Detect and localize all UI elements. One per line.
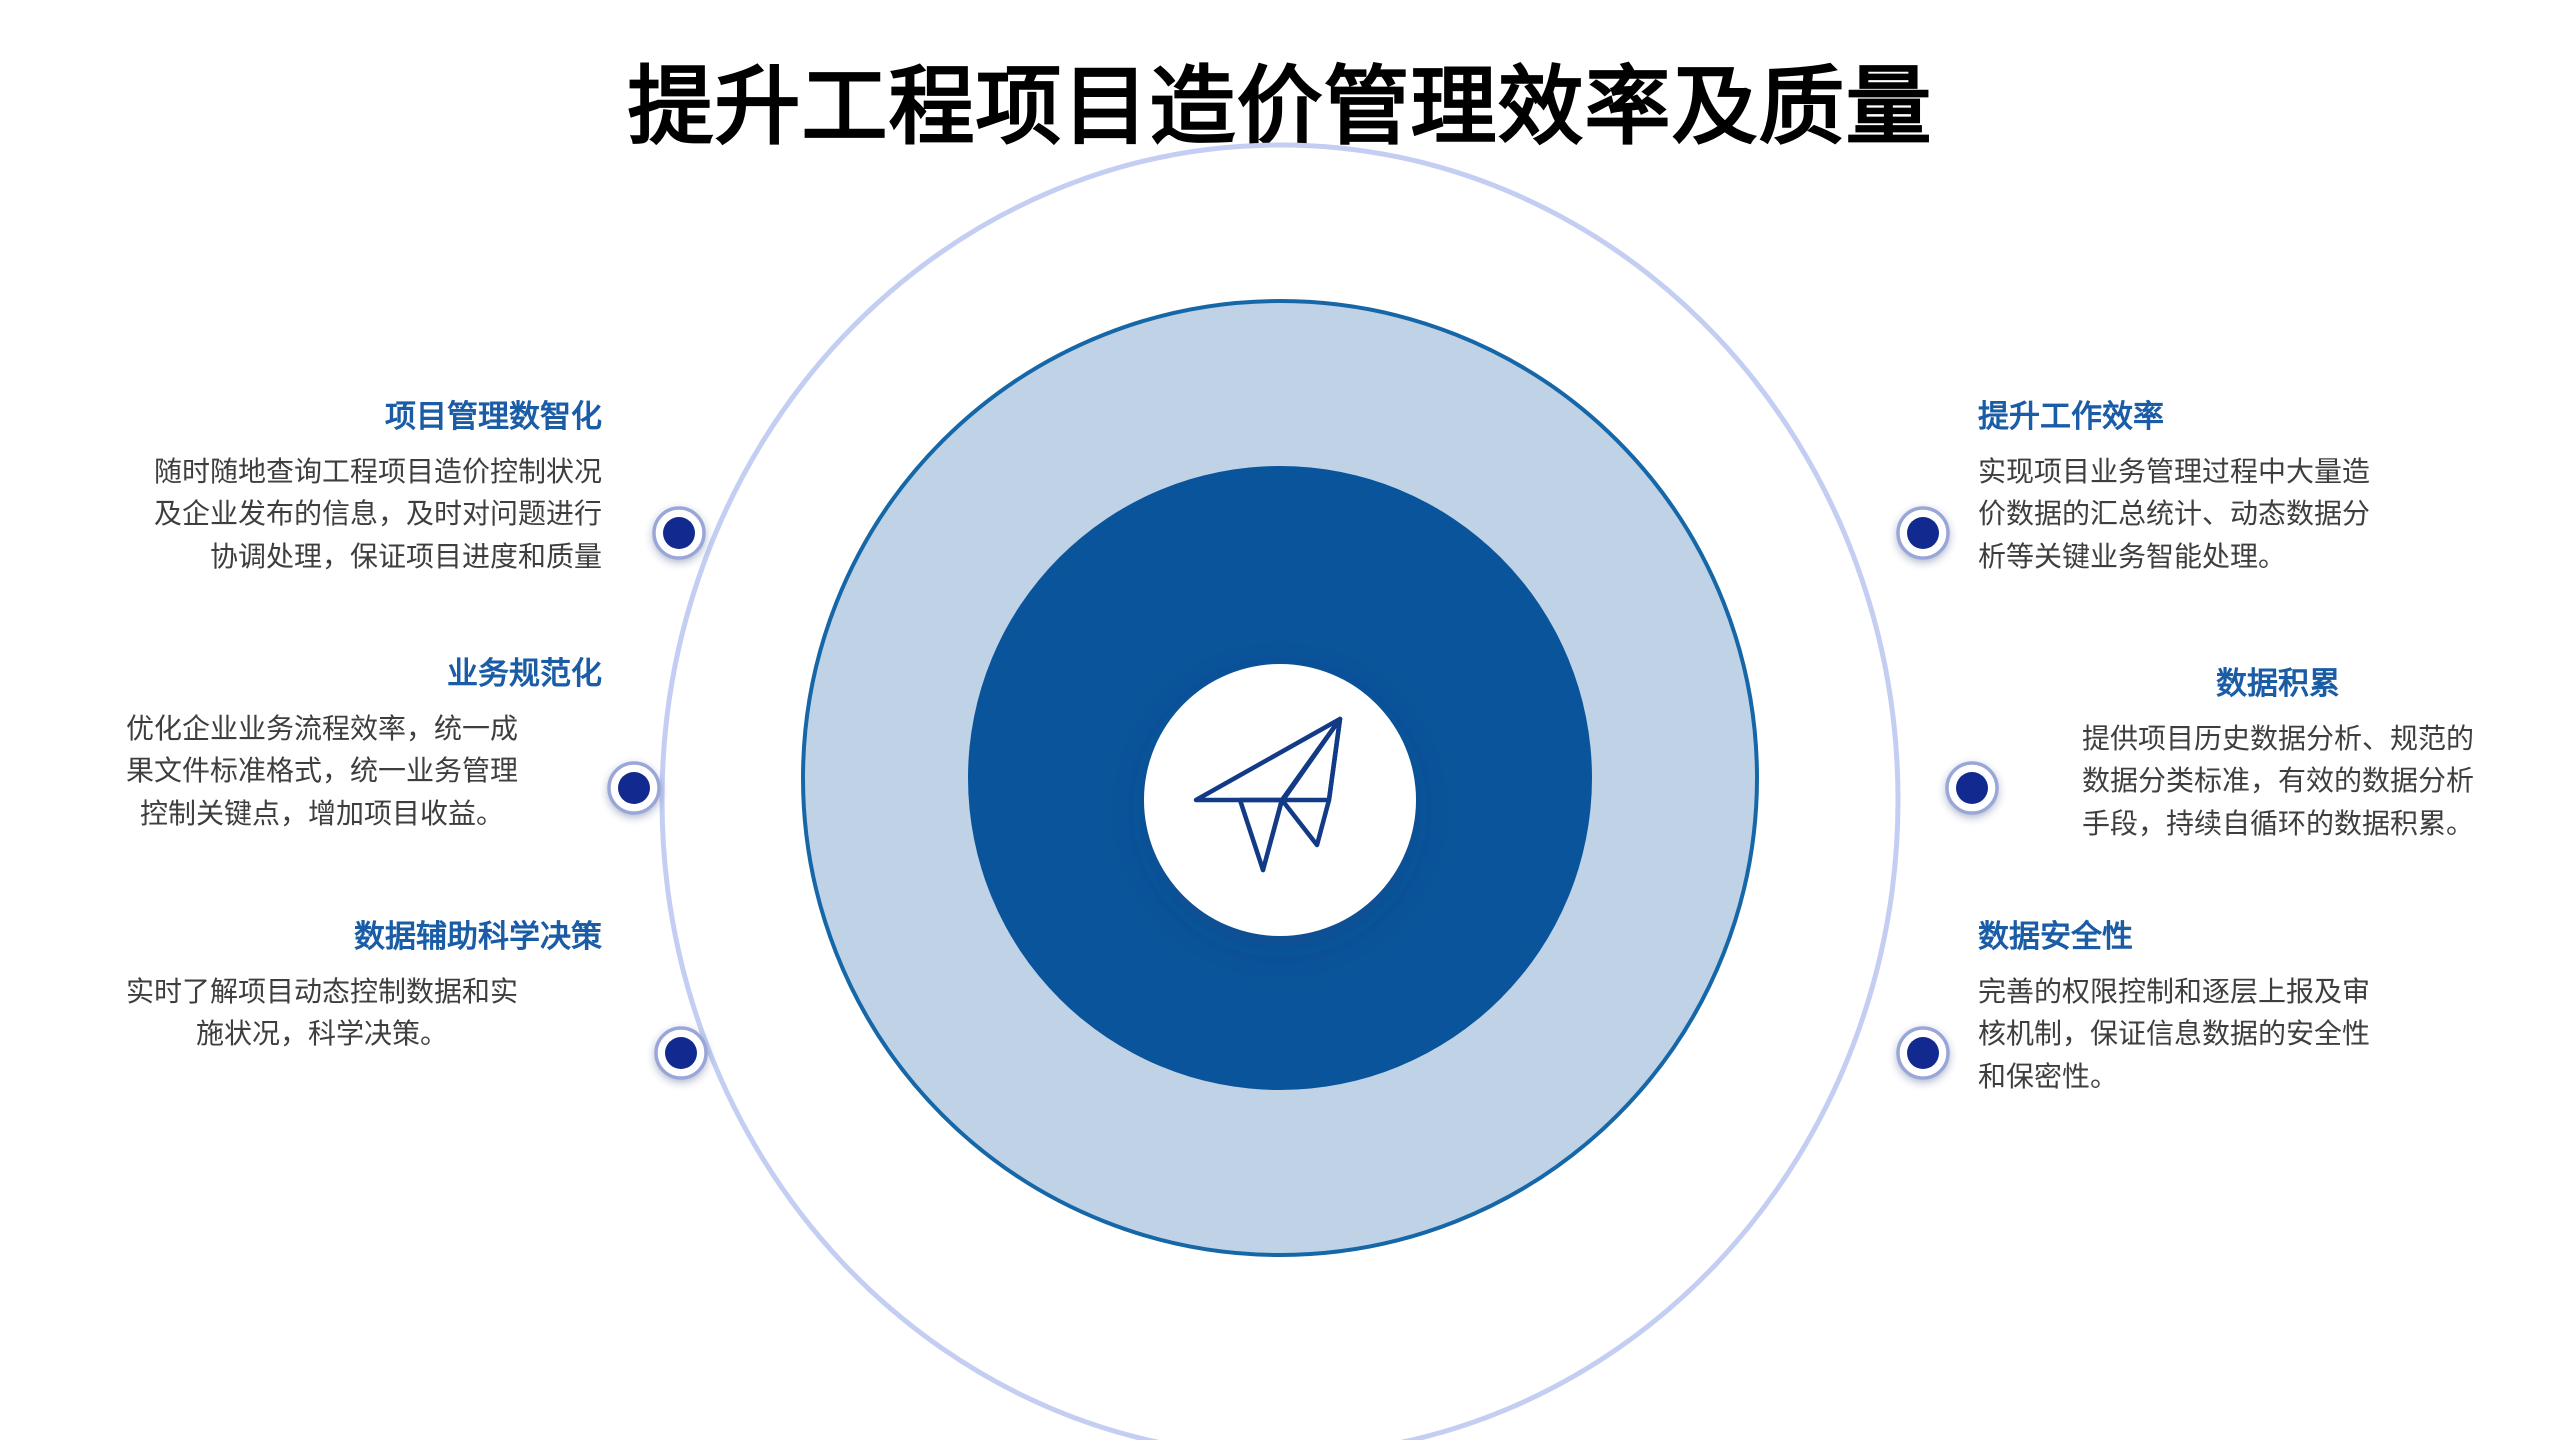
feature-heading: 项目管理数智化	[42, 398, 602, 437]
feature-block-right-1: 提升工作效率 实现项目业务管理过程中大量造 价数据的汇总统计、动态数据分 析等关…	[1978, 398, 2538, 578]
inner-circle	[968, 466, 1592, 1090]
feature-body-line: 提供项目历史数据分析、规范的	[1998, 718, 2558, 761]
feature-heading: 数据安全性	[1978, 918, 2538, 957]
paper-plane-icon	[1196, 719, 1340, 870]
feature-body-line: 核机制，保证信息数据的安全性	[1978, 1013, 2538, 1056]
feature-body-line: 协调处理，保证项目进度和质量	[42, 536, 602, 579]
feature-block-right-3: 数据安全性 完善的权限控制和逐层上报及审 核机制，保证信息数据的安全性 和保密性…	[1978, 918, 2538, 1098]
node-left-3[interactable]	[656, 1028, 706, 1078]
feature-body: 实现项目业务管理过程中大量造 价数据的汇总统计、动态数据分 析等关键业务智能处理…	[1978, 451, 2538, 579]
feature-block-right-2: 数据积累 提供项目历史数据分析、规范的 数据分类标准，有效的数据分析 手段，持续…	[1998, 665, 2558, 845]
mid-circle	[803, 301, 1757, 1255]
feature-heading: 数据辅助科学决策	[42, 918, 602, 957]
feature-heading: 业务规范化	[42, 655, 602, 694]
node-left-2[interactable]	[609, 763, 659, 813]
feature-body: 提供项目历史数据分析、规范的 数据分类标准，有效的数据分析 手段，持续自循环的数…	[1998, 718, 2558, 846]
page-title: 提升工程项目造价管理效率及质量	[0, 62, 2560, 152]
feature-body-line: 优化企业业务流程效率，统一成	[42, 708, 602, 751]
feature-body: 优化企业业务流程效率，统一成 果文件标准格式，统一业务管理 控制关键点，增加项目…	[42, 708, 602, 836]
core-circle	[1144, 664, 1416, 936]
feature-heading: 提升工作效率	[1978, 398, 2538, 437]
slide-canvas: 提升工程项目造价管理效率及质量	[0, 0, 2560, 1440]
feature-block-left-1: 项目管理数智化 随时随地查询工程项目造价控制状况 及企业发布的信息，及时对问题进…	[42, 398, 602, 578]
feature-body-line: 完善的权限控制和逐层上报及审	[1978, 971, 2538, 1014]
feature-body-line: 数据分类标准，有效的数据分析	[1998, 760, 2558, 803]
feature-body-line: 价数据的汇总统计、动态数据分	[1978, 493, 2538, 536]
node-right-1[interactable]	[1898, 508, 1948, 558]
feature-block-left-2: 业务规范化 优化企业业务流程效率，统一成 果文件标准格式，统一业务管理 控制关键…	[42, 655, 602, 835]
feature-body-line: 和保密性。	[1978, 1056, 2538, 1099]
outer-orbit-ring	[662, 145, 1898, 1440]
feature-body-line: 果文件标准格式，统一业务管理	[42, 750, 602, 793]
feature-body-line: 施状况，科学决策。	[42, 1013, 602, 1056]
feature-body: 完善的权限控制和逐层上报及审 核机制，保证信息数据的安全性 和保密性。	[1978, 971, 2538, 1099]
feature-block-left-3: 数据辅助科学决策 实时了解项目动态控制数据和实 施状况，科学决策。	[42, 918, 602, 1056]
feature-body-line: 随时随地查询工程项目造价控制状况	[42, 451, 602, 494]
feature-body: 随时随地查询工程项目造价控制状况 及企业发布的信息，及时对问题进行 协调处理，保…	[42, 451, 602, 579]
feature-body: 实时了解项目动态控制数据和实 施状况，科学决策。	[42, 971, 602, 1056]
feature-heading: 数据积累	[1998, 665, 2558, 704]
node-right-2[interactable]	[1947, 763, 1997, 813]
feature-body-line: 控制关键点，增加项目收益。	[42, 793, 602, 836]
feature-body-line: 手段，持续自循环的数据积累。	[1998, 803, 2558, 846]
feature-body-line: 及企业发布的信息，及时对问题进行	[42, 493, 602, 536]
feature-body-line: 实现项目业务管理过程中大量造	[1978, 451, 2538, 494]
node-left-1[interactable]	[654, 508, 704, 558]
feature-body-line: 实时了解项目动态控制数据和实	[42, 971, 602, 1014]
feature-body-line: 析等关键业务智能处理。	[1978, 536, 2538, 579]
node-right-3[interactable]	[1898, 1028, 1948, 1078]
